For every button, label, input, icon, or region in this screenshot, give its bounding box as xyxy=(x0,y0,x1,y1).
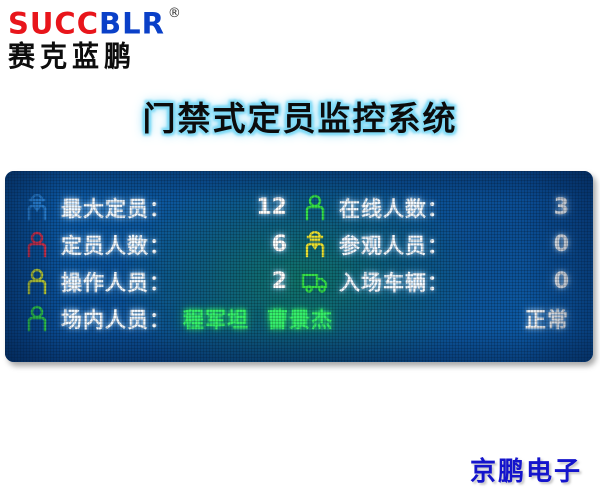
footer-brand: 京鹏电子 xyxy=(470,451,582,488)
brand-latin-red: SUCC xyxy=(8,7,99,41)
led-row-onsite-personnel: 场内人员： 程军坦 曹景杰 正常 xyxy=(23,300,573,337)
led-row-vehicles: 入场车辆： 0 xyxy=(301,263,573,300)
status-badge: 正常 xyxy=(525,304,573,334)
person-icon xyxy=(301,193,329,223)
led-label-visitors: 参观人员： xyxy=(339,230,449,260)
list-item: 程军坦 xyxy=(183,304,249,334)
registered-trademark-icon: ® xyxy=(168,6,182,21)
person-icon xyxy=(23,230,51,260)
led-display-panel: 最大定员： 12 定员人数： 6 xyxy=(5,171,593,362)
person-hat-icon xyxy=(23,193,51,223)
led-label-vehicles: 入场车辆： xyxy=(339,267,449,297)
led-value-vehicles: 0 xyxy=(554,269,573,294)
person-hat-icon xyxy=(301,230,329,260)
led-left-column: 最大定员： 12 定员人数： 6 xyxy=(23,189,291,300)
led-label-operators: 操作人员： xyxy=(61,267,171,297)
onsite-names-list: 程军坦 曹景杰 xyxy=(183,304,333,334)
person-icon xyxy=(23,304,51,334)
led-row-operators: 操作人员： 2 xyxy=(23,263,291,300)
list-item: 曹景杰 xyxy=(267,304,333,334)
brand-latin-wordmark: SUCCBLR® xyxy=(8,4,228,40)
brand-logo: SUCCBLR® 赛克蓝鹏 xyxy=(8,4,228,74)
truck-icon xyxy=(301,267,329,297)
led-right-column: 在线人数： 3 xyxy=(301,189,573,300)
led-value-assigned-count: 6 xyxy=(272,232,291,257)
led-row-max-capacity: 最大定员： 12 xyxy=(23,189,291,226)
led-row-visitors: 参观人员： 0 xyxy=(301,226,573,263)
led-label-onsite-personnel: 场内人员： xyxy=(61,304,171,334)
led-value-online-count: 3 xyxy=(554,195,573,220)
led-panel-content: 最大定员： 12 定员人数： 6 xyxy=(5,171,593,362)
page-title: 门禁式定员监控系统 xyxy=(0,92,600,140)
led-value-max-capacity: 12 xyxy=(256,195,291,220)
led-label-online-count: 在线人数： xyxy=(339,193,449,223)
led-label-assigned-count: 定员人数： xyxy=(61,230,171,260)
led-row-online-count: 在线人数： 3 xyxy=(301,189,573,226)
person-icon xyxy=(23,267,51,297)
brand-cjk-wordmark: 赛克蓝鹏 xyxy=(8,41,228,75)
led-value-operators: 2 xyxy=(272,269,291,294)
led-label-max-capacity: 最大定员： xyxy=(61,193,171,223)
led-value-visitors: 0 xyxy=(554,232,573,257)
led-row-assigned-count: 定员人数： 6 xyxy=(23,226,291,263)
brand-latin-blue: BLR xyxy=(99,7,165,41)
